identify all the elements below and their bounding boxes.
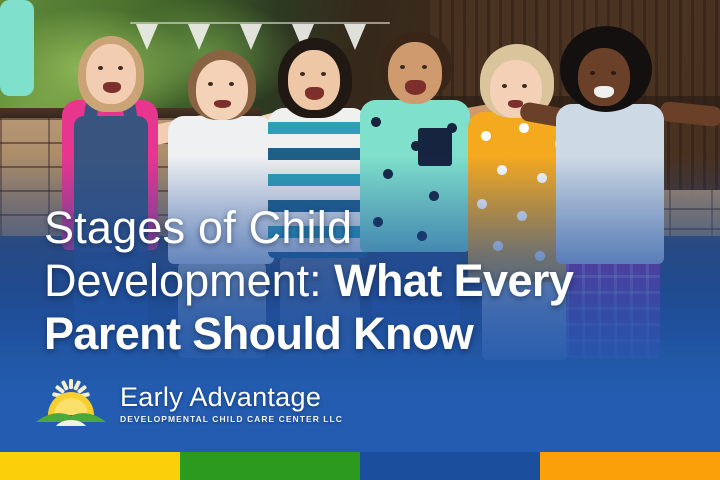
headline-line-3: Parent Should Know bbox=[44, 311, 694, 357]
headline: Stages of Child Development: What Every … bbox=[44, 205, 694, 357]
headline-line-2: Development: What Every bbox=[44, 258, 694, 304]
logo[interactable]: Early Advantage DEVELOPMENTAL CHILD CARE… bbox=[34, 378, 343, 428]
sunrise-over-hill-icon bbox=[34, 378, 108, 428]
headline-line-2-thin: Development: bbox=[44, 255, 322, 306]
bottom-color-bar bbox=[0, 452, 720, 480]
logo-tagline: DEVELOPMENTAL CHILD CARE CENTER LLC bbox=[120, 414, 343, 424]
logo-text: Early Advantage DEVELOPMENTAL CHILD CARE… bbox=[120, 382, 343, 424]
promotional-banner: Stages of Child Development: What Every … bbox=[0, 0, 720, 480]
segment-orange bbox=[540, 452, 720, 480]
segment-blue bbox=[360, 452, 540, 480]
headline-line-1: Stages of Child bbox=[44, 205, 694, 251]
segment-yellow bbox=[0, 452, 180, 480]
logo-name: Early Advantage bbox=[120, 382, 343, 413]
segment-green bbox=[180, 452, 360, 480]
headline-line-2-bold: What Every bbox=[334, 255, 573, 306]
